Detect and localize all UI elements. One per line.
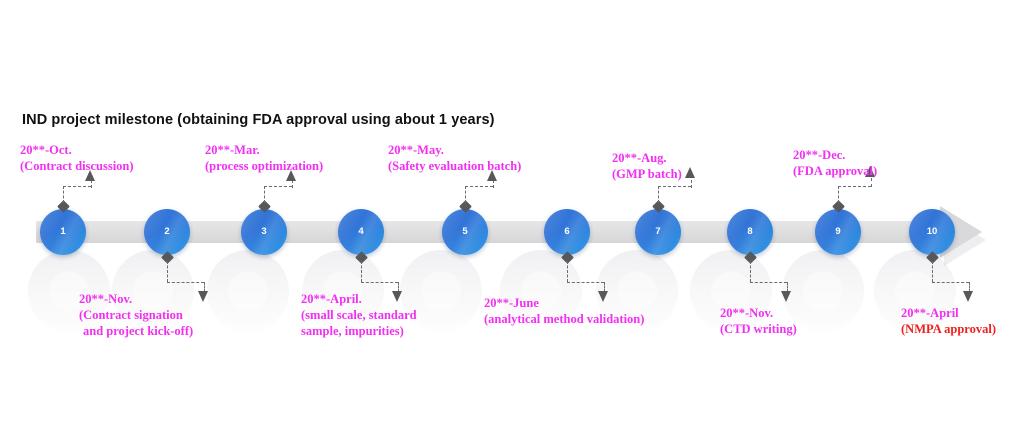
milestone-label-2: 20**-Nov. (Contract signation and projec… (79, 291, 193, 339)
connector-segment-vertical (838, 186, 839, 203)
milestone-node-3[interactable]: 3 (241, 209, 287, 255)
milestone-node-number: 10 (927, 227, 938, 237)
milestone-desc: (small scale, standard (301, 307, 417, 323)
milestone-node-number: 7 (655, 227, 660, 237)
connector-segment-horizontal (750, 282, 787, 283)
connector-arrow-up-icon (685, 167, 695, 178)
connector-segment-vertical (871, 178, 872, 187)
milestone-node-7[interactable]: 7 (635, 209, 681, 255)
connector-segment-vertical (493, 180, 494, 188)
connector-segment-vertical (750, 261, 751, 282)
milestone-date: 20**-April. (301, 291, 417, 307)
milestone-date: 20**-Dec. (793, 147, 877, 163)
milestone-desc: (Contract signation (79, 307, 193, 323)
milestone-date: 20**-May. (388, 142, 521, 158)
milestone-date: 20**-Oct. (20, 142, 134, 158)
milestone-date: 20**-Aug. (612, 150, 682, 166)
milestone-node-6[interactable]: 6 (544, 209, 590, 255)
milestone-diagram: 1 20**-Oct. (Contract discussion) 2 20**… (0, 0, 1024, 441)
connector-segment-vertical (63, 186, 64, 203)
connector-segment-vertical (567, 261, 568, 282)
milestone-label-1: 20**-Oct. (Contract discussion) (20, 142, 134, 174)
milestone-node-9[interactable]: 9 (815, 209, 861, 255)
milestone-desc: (CTD writing) (720, 321, 797, 337)
page-title: IND project milestone (obtaining FDA app… (22, 112, 495, 128)
connector-segment-vertical (167, 261, 168, 282)
milestone-node-number: 8 (747, 227, 752, 237)
connector-segment-horizontal (361, 282, 398, 283)
milestone-node-number: 2 (164, 227, 169, 237)
connector-segment-horizontal (63, 186, 91, 187)
milestone-label-9: 20**-Dec. (FDA approval) (793, 147, 877, 179)
connector-arrow-down-icon (781, 291, 791, 302)
milestone-desc: (NMPA approval) (901, 321, 996, 337)
milestone-node-10[interactable]: 10 (909, 209, 955, 255)
milestone-node-number: 9 (835, 227, 840, 237)
milestone-desc: (GMP batch) (612, 166, 682, 182)
connector-segment-horizontal (465, 186, 493, 187)
milestone-node-5[interactable]: 5 (442, 209, 488, 255)
connector-segment-horizontal (567, 282, 604, 283)
milestone-desc: (FDA approval) (793, 163, 877, 179)
milestone-date: 20**-Nov. (720, 305, 797, 321)
milestone-label-4: 20**-April. (small scale, standard sampl… (301, 291, 417, 339)
connector-segment-vertical (465, 186, 466, 203)
connector-segment-vertical (658, 186, 659, 203)
milestone-node-number: 4 (358, 227, 363, 237)
decorative-ring-core (421, 271, 461, 311)
milestone-node-number: 1 (60, 227, 65, 237)
connector-segment-horizontal (264, 186, 292, 187)
milestone-node-number: 6 (564, 227, 569, 237)
connector-segment-horizontal (932, 282, 969, 283)
connector-arrow-down-icon (198, 291, 208, 302)
milestone-desc: (Contract discussion) (20, 158, 134, 174)
connector-segment-vertical (932, 261, 933, 282)
connector-segment-horizontal (658, 186, 691, 187)
milestone-label-5: 20**-May. (Safety evaluation batch) (388, 142, 521, 174)
connector-segment-vertical (91, 180, 92, 188)
connector-arrow-down-icon (963, 291, 973, 302)
connector-segment-vertical (361, 261, 362, 282)
milestone-date: 20**-Nov. (79, 291, 193, 307)
milestone-node-4[interactable]: 4 (338, 209, 384, 255)
milestone-label-8: 20**-Nov. (CTD writing) (720, 305, 797, 337)
milestone-desc: (Safety evaluation batch) (388, 158, 521, 174)
milestone-date: 20**-June (484, 295, 644, 311)
milestone-node-1[interactable]: 1 (40, 209, 86, 255)
milestone-desc-2: and project kick-off) (79, 323, 193, 339)
milestone-date: 20**-April (901, 305, 996, 321)
connector-segment-vertical (292, 180, 293, 188)
milestone-desc: (process optimization) (205, 158, 323, 174)
connector-segment-vertical (264, 186, 265, 203)
decorative-ring-core (803, 271, 843, 311)
milestone-desc-2: sample, impurities) (301, 323, 417, 339)
milestone-date: 20**-Mar. (205, 142, 323, 158)
milestone-label-6: 20**-June (analytical method validation) (484, 295, 644, 327)
connector-segment-horizontal (167, 282, 204, 283)
milestone-node-number: 3 (261, 227, 266, 237)
milestone-label-7: 20**-Aug. (GMP batch) (612, 150, 682, 182)
decorative-ring (207, 250, 289, 332)
milestone-node-number: 5 (462, 227, 467, 237)
milestone-label-10: 20**-April (NMPA approval) (901, 305, 996, 337)
connector-segment-horizontal (838, 186, 871, 187)
milestone-node-8[interactable]: 8 (727, 209, 773, 255)
milestone-desc: (analytical method validation) (484, 311, 644, 327)
decorative-ring-core (228, 271, 268, 311)
milestone-node-2[interactable]: 2 (144, 209, 190, 255)
connector-segment-vertical (691, 180, 692, 188)
milestone-label-3: 20**-Mar. (process optimization) (205, 142, 323, 174)
